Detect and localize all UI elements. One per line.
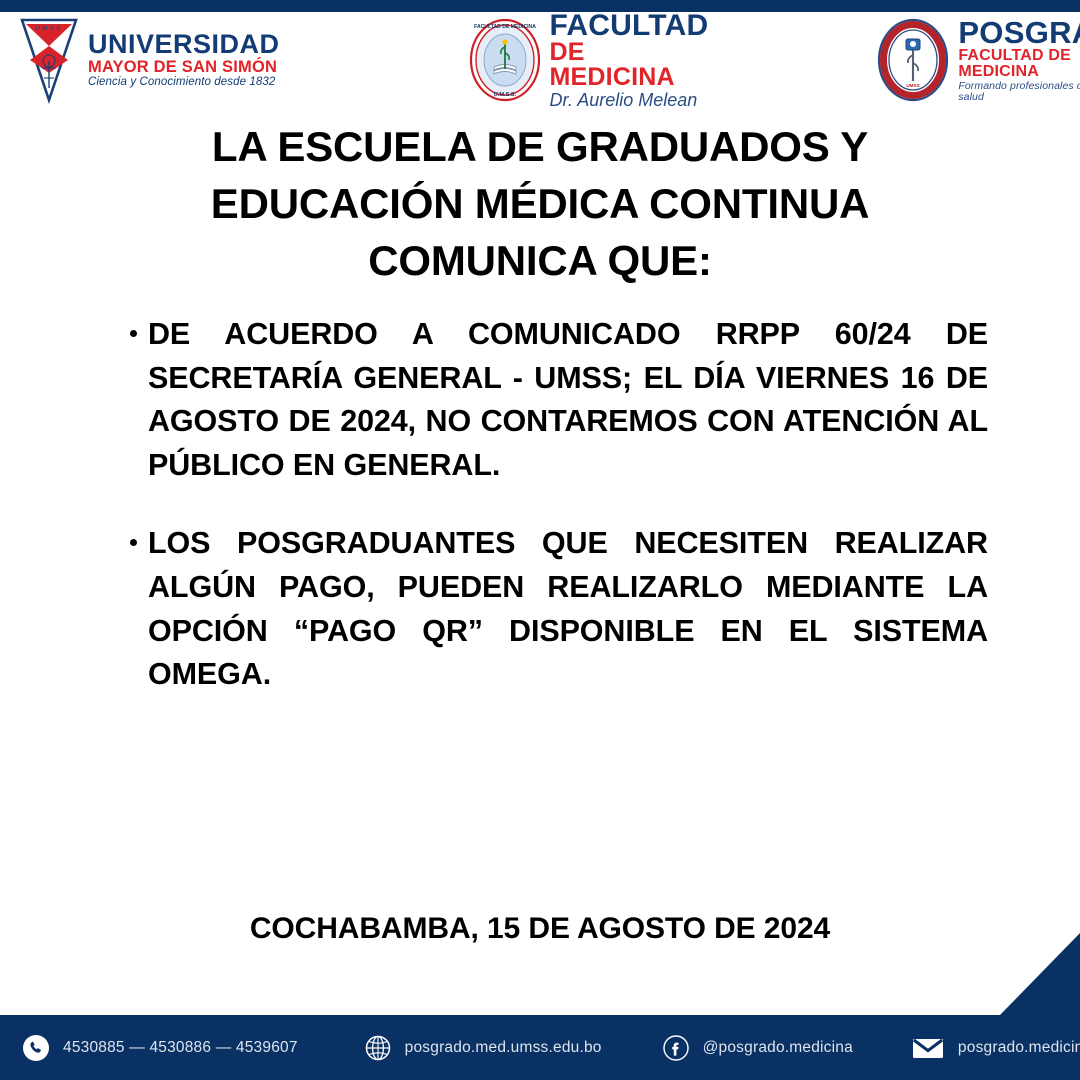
umss-wordmark-line1: UNIVERSIDAD	[88, 31, 280, 58]
list-item: DE ACUERDO A COMUNICADO RRPP 60/24 DE SE…	[128, 313, 988, 487]
umss-wordmark-tagline: Ciencia y Conocimiento desde 1832	[88, 77, 280, 89]
bullet-dot-icon	[130, 330, 137, 337]
umss-wordmark: UNIVERSIDAD MAYOR DE SAN SIMÓN Ciencia y…	[88, 31, 280, 89]
footer-item-facebook[interactable]: @posgrado.medicina	[662, 1034, 853, 1062]
footer-facebook-label: @posgrado.medicina	[703, 1039, 853, 1057]
phone-icon	[22, 1034, 50, 1062]
posgrado-wordmark-line1: POSGRADO	[958, 17, 1080, 48]
posgrado-facultad-de-medicina-oval-seal: UMSS	[876, 17, 950, 103]
footer-item-phone[interactable]: 4530885 — 4530886 — 4539607	[22, 1034, 298, 1062]
umss-triangular-shield-logo: UMSS	[18, 16, 80, 104]
facultad-wordmark: FACULTAD DE MEDICINA Dr. Aurelio Melean	[550, 11, 709, 109]
list-item-text: LOS POSGRADUANTES QUE NECESITEN REALIZAR…	[148, 526, 988, 691]
footer-phone-label: 4530885 — 4530886 — 4539607	[63, 1039, 298, 1057]
header-logo-bar: UMSS UNIVERSIDAD MAYOR DE SAN SIMÓN Cien…	[0, 12, 1080, 107]
page-title: LA ESCUELA DE GRADUADOS Y EDUCACIÓN MÉDI…	[140, 118, 940, 289]
footer-website-label: posgrado.med.umss.edu.bo	[405, 1039, 602, 1057]
umss-wordmark-line2: MAYOR DE SAN SIMÓN	[88, 59, 280, 76]
facultad-wordmark-subtitle: Dr. Aurelio Melean	[550, 91, 709, 109]
facebook-icon	[662, 1034, 690, 1062]
svg-text:U.M.S.S.: U.M.S.S.	[493, 92, 516, 98]
facultad-wordmark-line2: DE MEDICINA	[550, 40, 709, 90]
posgrado-wordmark-tagline: Formando profesionales de calidad en sal…	[958, 81, 1080, 102]
svg-text:FACULTAD DE MEDICINA: FACULTAD DE MEDICINA	[474, 24, 536, 30]
facultad-wordmark-line1: FACULTAD	[550, 11, 709, 41]
svg-text:UMSS: UMSS	[35, 25, 62, 32]
footer-item-email[interactable]: posgrado.medicina@umss.edu	[911, 1035, 1080, 1061]
logo-umss: UMSS UNIVERSIDAD MAYOR DE SAN SIMÓN Cien…	[18, 16, 280, 104]
logo-posgrado: UMSS POSGRADO FACULTAD DE MEDICINA Forma…	[876, 17, 1080, 103]
svg-text:UMSS: UMSS	[907, 83, 920, 88]
list-item-text: DE ACUERDO A COMUNICADO RRPP 60/24 DE SE…	[148, 317, 988, 482]
logo-facultad-medicina: FACULTAD DE MEDICINA U.M.S.S. FACULTAD D…	[468, 11, 709, 109]
envelope-icon	[911, 1035, 945, 1061]
posgrado-wordmark-line2: FACULTAD DE MEDICINA	[958, 48, 1080, 80]
footer-item-website[interactable]: posgrado.med.umss.edu.bo	[364, 1034, 602, 1062]
list-item: LOS POSGRADUANTES QUE NECESITEN REALIZAR…	[128, 522, 988, 696]
facultad-de-medicina-oval-seal: FACULTAD DE MEDICINA U.M.S.S.	[468, 17, 542, 103]
announcement-bullet-list: DE ACUERDO A COMUNICADO RRPP 60/24 DE SE…	[128, 313, 988, 697]
posgrado-wordmark: POSGRADO FACULTAD DE MEDICINA Formando p…	[958, 17, 1080, 102]
globe-icon	[364, 1034, 392, 1062]
footer-contact-bar: 4530885 — 4530886 — 4539607 posgrado.med…	[0, 1015, 1080, 1080]
dateline: COCHABAMBA, 15 DE AGOSTO DE 2024	[0, 912, 1080, 946]
footer-email-label: posgrado.medicina@umss.edu	[958, 1039, 1080, 1057]
bullet-dot-icon	[130, 539, 137, 546]
